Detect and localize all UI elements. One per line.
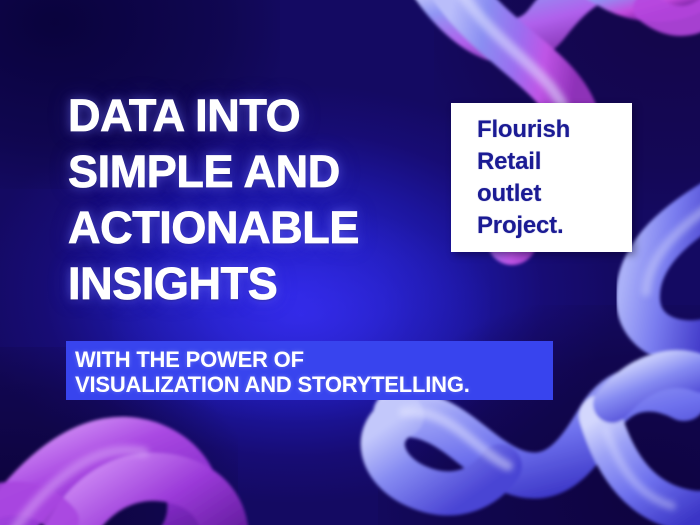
project-line-1: Flourish [477,114,632,146]
headline-line-4: INSIGHTS [68,256,448,312]
subtitle-line-1: WITH THE POWER OF [75,347,553,372]
project-title-card: Flourish Retail outlet Project. [451,103,632,252]
title-slide: DATA INTO SIMPLE AND ACTIONABLE INSIGHTS… [0,0,700,525]
page-title: DATA INTO SIMPLE AND ACTIONABLE INSIGHTS [68,88,448,312]
project-line-2: Retail [477,146,632,178]
subtitle-banner: WITH THE POWER OF VISUALIZATION AND STOR… [66,341,553,400]
project-title-card-inner: Flourish Retail outlet Project. [451,103,632,242]
project-line-4: Project. [477,210,632,242]
subtitle-banner-inner: WITH THE POWER OF VISUALIZATION AND STOR… [66,341,553,397]
headline-line-2: SIMPLE AND [68,144,448,200]
headline-line-1: DATA INTO [68,88,448,144]
headline-line-3: ACTIONABLE [68,200,448,256]
subtitle-line-2: VISUALIZATION AND STORYTELLING. [75,372,553,397]
project-line-3: outlet [477,178,632,210]
